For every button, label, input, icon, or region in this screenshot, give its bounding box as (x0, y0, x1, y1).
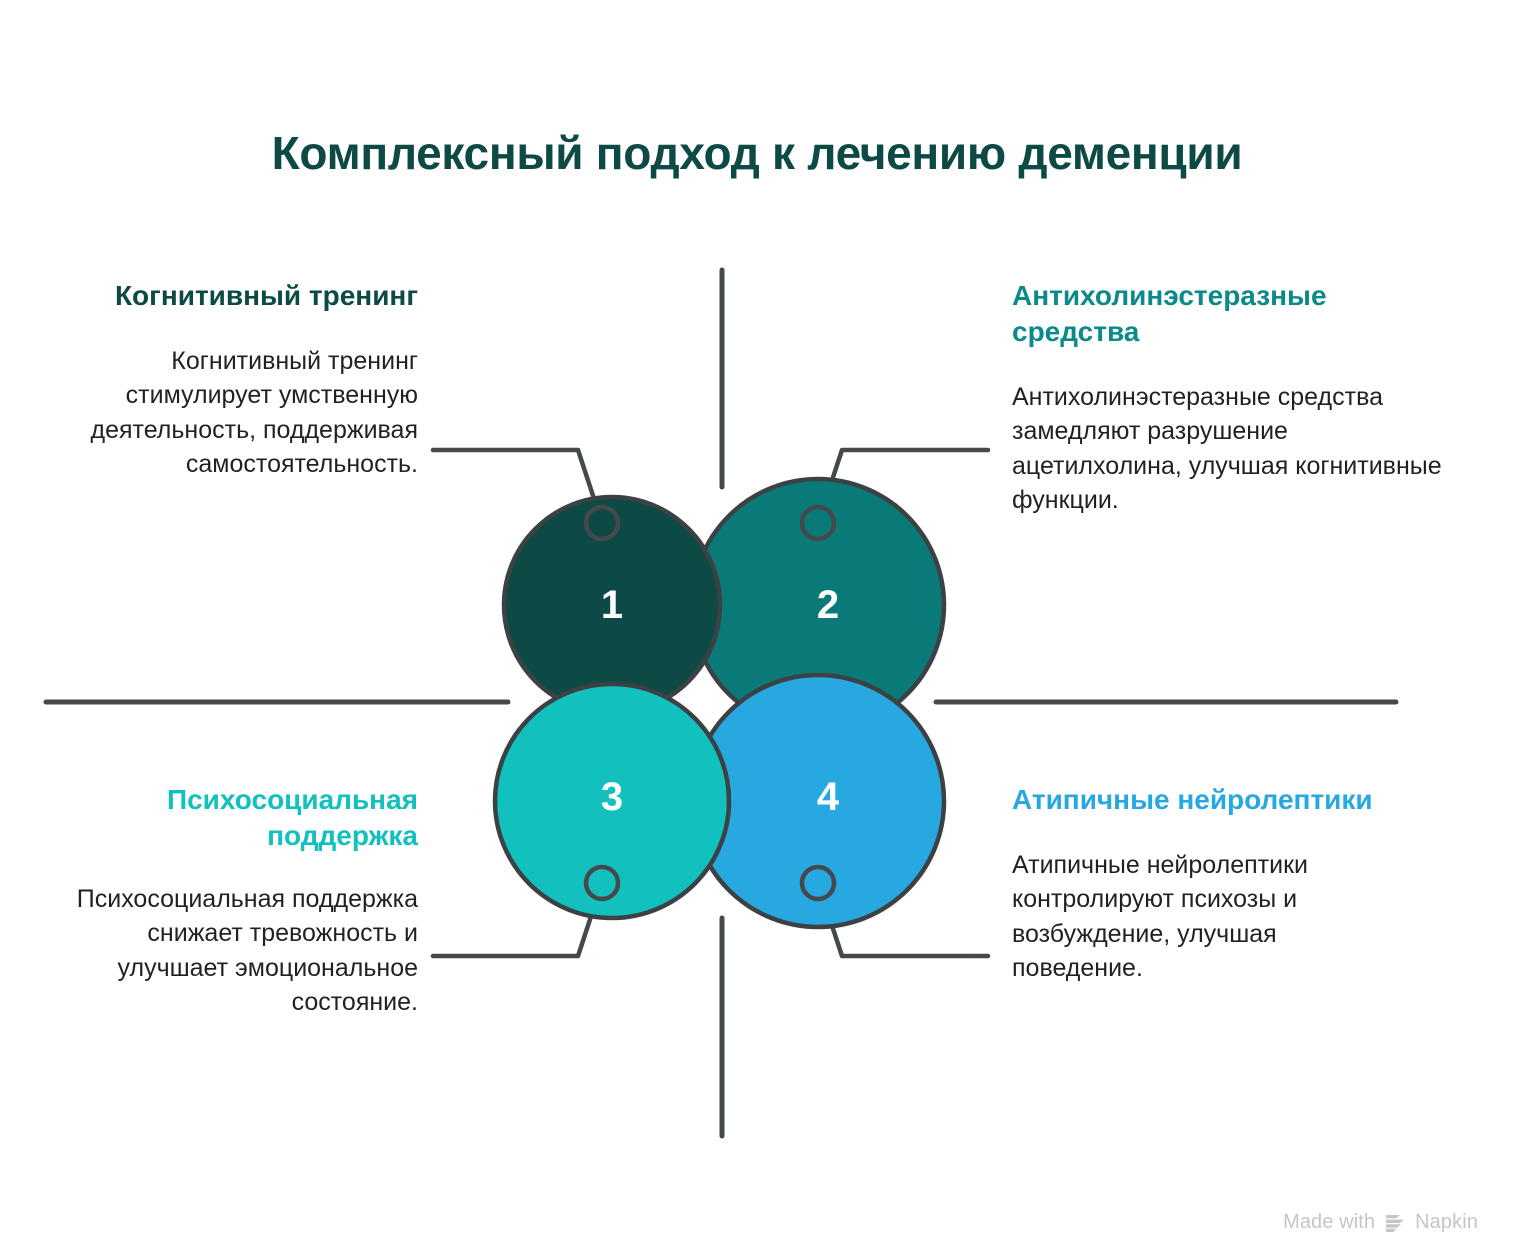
diagram-graphic (0, 0, 1514, 1256)
circle-number-3: 3 (582, 777, 642, 817)
quadrant-atypical-antipsychotics: Атипичные нейролептики Атипичные нейроле… (1012, 782, 1392, 986)
connector-anchor-3 (586, 867, 618, 899)
connector-line-1 (433, 450, 602, 523)
quadrant-2-body: Антихолинэстеразные средства замедляют р… (1012, 380, 1452, 518)
connector-anchor-4 (802, 867, 834, 899)
footer-made-with-label: Made with (1283, 1211, 1375, 1234)
quadrant-cognitive-training: Когнитивный тренинг Когнитивный тренинг … (62, 278, 418, 482)
connector-line-3 (433, 883, 602, 956)
quadrant-2-heading: Антихолинэстеразные средства (1012, 278, 1452, 350)
quadrant-psychosocial-support: Психосоциальная поддержка Психосоциальна… (62, 782, 418, 1020)
quadrant-1-body: Когнитивный тренинг стимулирует умственн… (62, 344, 418, 482)
page-title: Комплексный подход к лечению деменции (0, 128, 1514, 180)
quadrant-4-heading: Атипичные нейролептики (1012, 782, 1392, 818)
quadrant-3-body: Психосоциальная поддержка снижает тревож… (62, 882, 418, 1020)
quadrant-4-body: Атипичные нейролептики контролируют псих… (1012, 848, 1392, 986)
connector-anchors (586, 507, 834, 899)
napkin-logo-icon (1384, 1213, 1406, 1233)
connector-anchor-1 (586, 507, 618, 539)
connector-line-2 (818, 450, 988, 523)
footer-brand-name: Napkin (1415, 1211, 1478, 1234)
footer-watermark: Made with Napkin (1283, 1211, 1478, 1234)
circle-number-1: 1 (582, 585, 642, 625)
circle-cluster (495, 479, 944, 927)
circle-number-4: 4 (798, 777, 858, 817)
connector-lines (433, 450, 988, 956)
circle-number-2: 2 (798, 585, 858, 625)
quadrant-anticholinesterase-drugs: Антихолинэстеразные средства Антихолинэс… (1012, 278, 1452, 518)
quadrant-1-heading: Когнитивный тренинг (62, 278, 418, 314)
quadrant-3-heading: Психосоциальная поддержка (62, 782, 418, 854)
infographic-canvas: Комплексный подход к лечению деменции (0, 0, 1514, 1256)
connector-line-4 (818, 883, 988, 956)
connector-anchor-2 (802, 507, 834, 539)
